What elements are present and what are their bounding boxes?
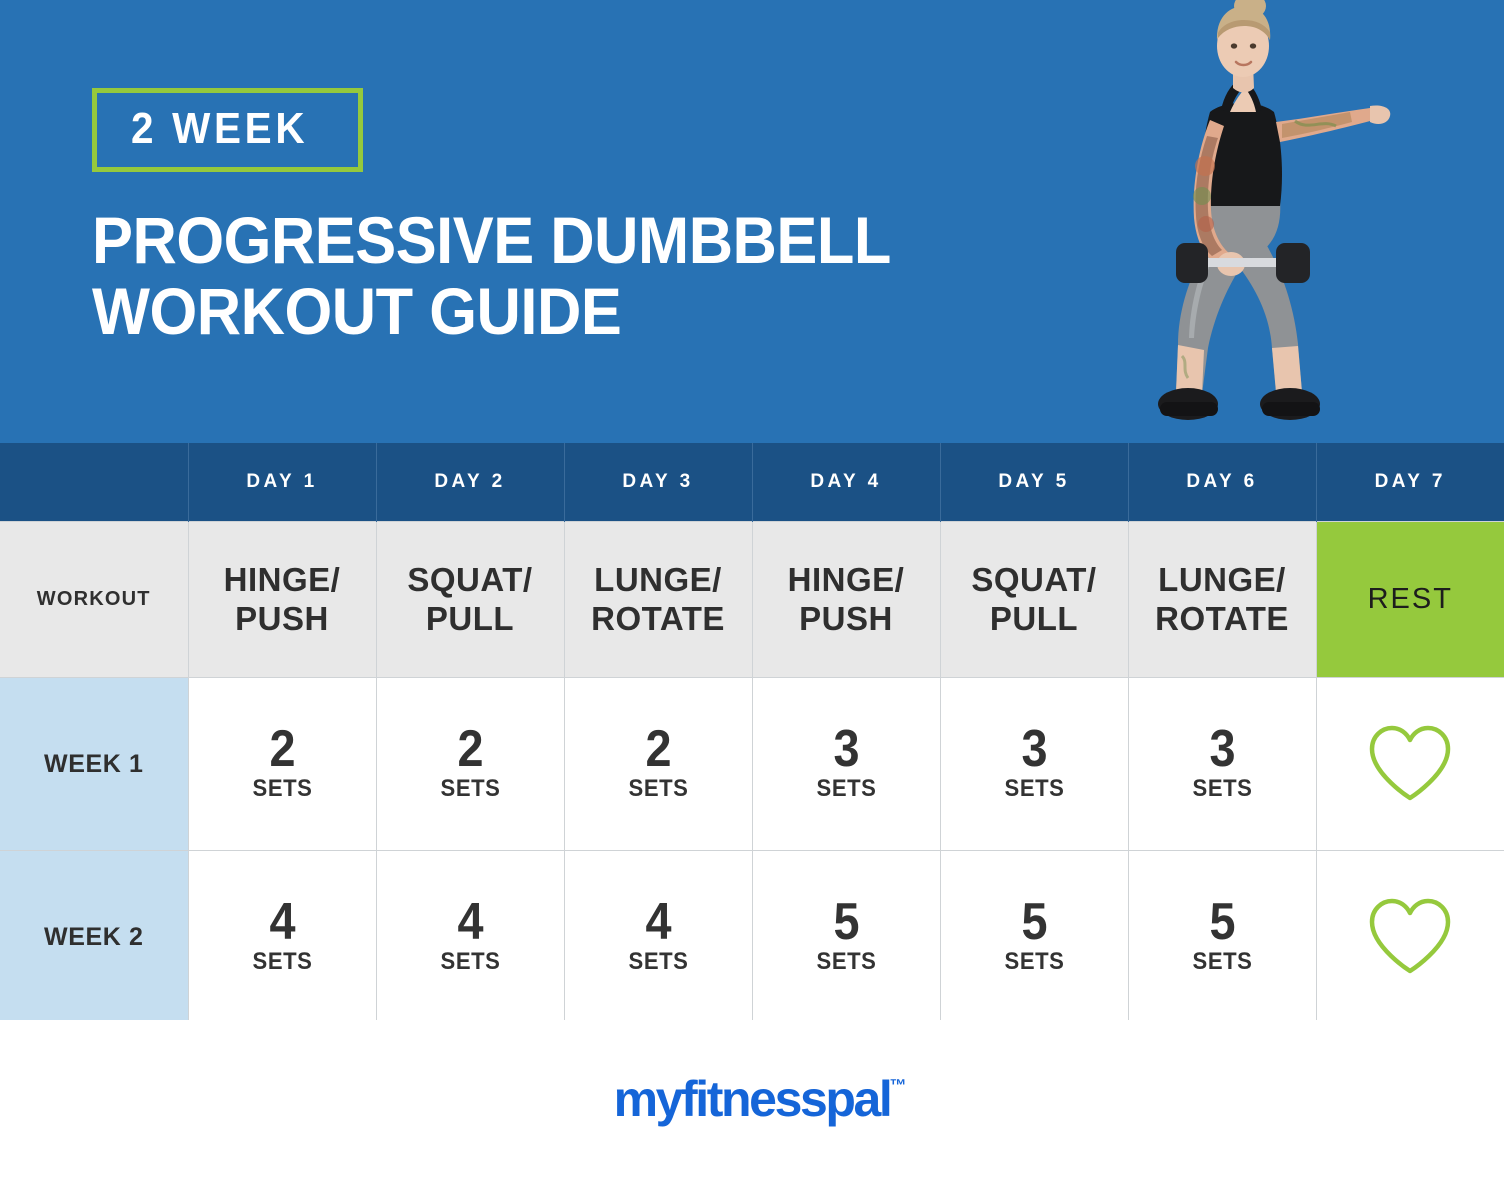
page-title: PROGRESSIVE DUMBBELL WORKOUT GUIDE bbox=[92, 205, 891, 348]
sets-cell-week2-day2: 4 SETS bbox=[376, 851, 564, 1025]
sets-count: 4 bbox=[574, 897, 742, 948]
sets-count: 2 bbox=[386, 724, 554, 775]
column-header-day-1: DAY 1 bbox=[188, 443, 376, 522]
sets-unit: SETS bbox=[384, 947, 556, 977]
duration-badge-label: 2 WEEK bbox=[131, 107, 308, 151]
column-header-day-3: DAY 3 bbox=[564, 443, 752, 522]
infographic-page: 2 WEEK PROGRESSIVE DUMBBELL WORKOUT GUID… bbox=[0, 0, 1504, 1178]
sets-cell-week2-day1: 4 SETS bbox=[188, 851, 376, 1025]
sets-count: 3 bbox=[950, 724, 1118, 775]
sets-cell-week2-day3: 4 SETS bbox=[564, 851, 752, 1025]
sets-cell-week1-day4: 3 SETS bbox=[752, 678, 940, 851]
column-header-day-4: DAY 4 bbox=[752, 443, 940, 522]
sets-cell-week1-day2: 2 SETS bbox=[376, 678, 564, 851]
workout-cell-day-4: HINGE/ PUSH bbox=[752, 522, 940, 678]
column-header-day-7: DAY 7 bbox=[1316, 443, 1504, 522]
week-2-row: WEEK 2 4 SETS 4 SETS 4 SETS 5 SETS bbox=[0, 851, 1504, 1025]
sets-cell-week1-day3: 2 SETS bbox=[564, 678, 752, 851]
workout-cell-day-7-rest: REST bbox=[1316, 522, 1504, 678]
workout-cell-day-5: SQUAT/ PULL bbox=[940, 522, 1128, 678]
athlete-photo bbox=[1090, 0, 1420, 430]
sets-unit: SETS bbox=[572, 947, 744, 977]
sets-unit: SETS bbox=[1136, 947, 1308, 977]
brand-logo: myfitnesspal ™ bbox=[614, 1070, 891, 1128]
sets-unit: SETS bbox=[196, 947, 368, 977]
sets-unit: SETS bbox=[760, 947, 932, 977]
sets-cell-week1-day1: 2 SETS bbox=[188, 678, 376, 851]
sets-cell-week1-day5: 3 SETS bbox=[940, 678, 1128, 851]
workout-cell-day-2: SQUAT/ PULL bbox=[376, 522, 564, 678]
sets-cell-week1-day6: 3 SETS bbox=[1128, 678, 1316, 851]
sets-unit: SETS bbox=[948, 774, 1120, 804]
row-label-workout: WORKOUT bbox=[0, 522, 188, 678]
sets-unit: SETS bbox=[948, 947, 1120, 977]
sets-count: 4 bbox=[198, 897, 366, 948]
workout-schedule-table: DAY 1 DAY 2 DAY 3 DAY 4 DAY 5 DAY 6 DAY … bbox=[0, 443, 1504, 1026]
sets-cell-week2-day5: 5 SETS bbox=[940, 851, 1128, 1025]
row-label-week-1: WEEK 1 bbox=[0, 678, 188, 851]
sets-count: 3 bbox=[1138, 724, 1306, 775]
workout-cell-day-1: HINGE/ PUSH bbox=[188, 522, 376, 678]
sets-count: 5 bbox=[950, 897, 1118, 948]
week-1-row: WEEK 1 2 SETS 2 SETS 2 SETS 3 SETS bbox=[0, 678, 1504, 851]
sets-count: 2 bbox=[574, 724, 742, 775]
sets-count: 5 bbox=[762, 897, 930, 948]
duration-badge: 2 WEEK bbox=[92, 88, 363, 172]
trademark-symbol: ™ bbox=[889, 1076, 906, 1096]
footer: myfitnesspal ™ bbox=[0, 1020, 1504, 1178]
hero-banner: 2 WEEK PROGRESSIVE DUMBBELL WORKOUT GUID… bbox=[0, 0, 1504, 443]
rest-cell-week2 bbox=[1316, 851, 1504, 1025]
sets-unit: SETS bbox=[1136, 774, 1308, 804]
sets-unit: SETS bbox=[572, 774, 744, 804]
column-header-day-5: DAY 5 bbox=[940, 443, 1128, 522]
brand-logo-text: myfitnesspal bbox=[614, 1071, 891, 1127]
heart-outline-icon bbox=[1364, 895, 1456, 979]
column-header-day-2: DAY 2 bbox=[376, 443, 564, 522]
table-corner-cell bbox=[0, 443, 188, 522]
workout-row: WORKOUT HINGE/ PUSH SQUAT/ PULL LUNGE/ R… bbox=[0, 522, 1504, 678]
column-header-day-6: DAY 6 bbox=[1128, 443, 1316, 522]
workout-cell-day-3: LUNGE/ ROTATE bbox=[564, 522, 752, 678]
heart-outline-icon bbox=[1364, 722, 1456, 806]
sets-unit: SETS bbox=[196, 774, 368, 804]
workout-cell-day-6: LUNGE/ ROTATE bbox=[1128, 522, 1316, 678]
sets-count: 3 bbox=[762, 724, 930, 775]
sets-count: 4 bbox=[386, 897, 554, 948]
table-header-row: DAY 1 DAY 2 DAY 3 DAY 4 DAY 5 DAY 6 DAY … bbox=[0, 443, 1504, 522]
sets-cell-week2-day6: 5 SETS bbox=[1128, 851, 1316, 1025]
sets-unit: SETS bbox=[384, 774, 556, 804]
rest-cell-week1 bbox=[1316, 678, 1504, 851]
sets-cell-week2-day4: 5 SETS bbox=[752, 851, 940, 1025]
sets-count: 2 bbox=[198, 724, 366, 775]
sets-count: 5 bbox=[1138, 897, 1306, 948]
row-label-week-2: WEEK 2 bbox=[0, 851, 188, 1025]
sets-unit: SETS bbox=[760, 774, 932, 804]
